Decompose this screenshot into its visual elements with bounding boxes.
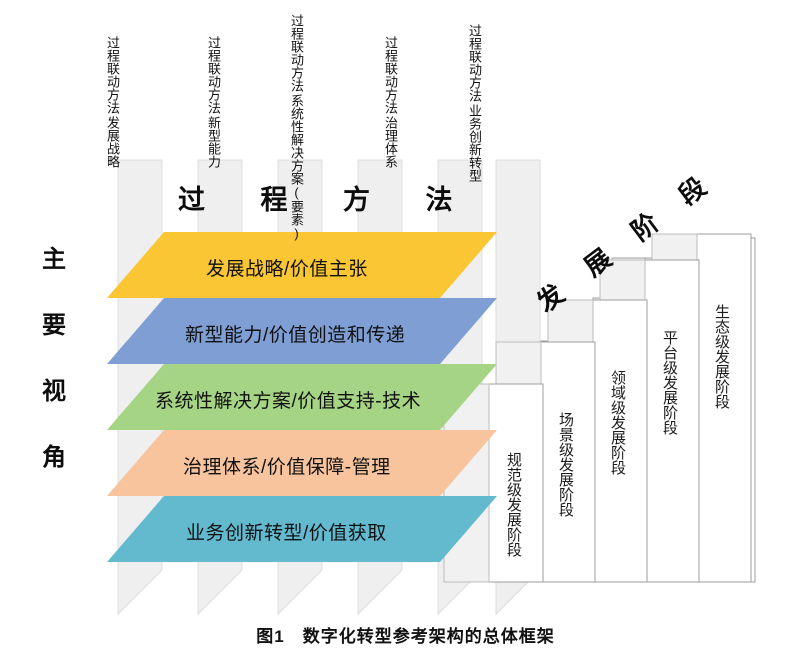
process-column-5-line2: 过程联动方法	[466, 24, 483, 102]
process-column-1-line1: 发展战略	[104, 116, 121, 168]
layer-label-business: 业务创新转型/价值获取	[186, 518, 387, 545]
stage-label-scene: 场景级发展阶段	[557, 412, 573, 517]
process-column-3-line1: 系统性解决方案(要素)	[288, 94, 305, 241]
stage-boxes	[444, 234, 751, 582]
layer-label-capability: 新型能力/价值创造和传递	[185, 320, 405, 347]
layer-label-solution: 系统性解决方案/价值支持-技术	[155, 386, 421, 413]
process-column-2-line1: 新型能力	[205, 116, 222, 168]
process-column-4-line2: 过程联动方法	[382, 36, 399, 114]
process-column-2-line2: 过程联动方法	[205, 36, 222, 114]
layer-label-strategy: 发展战略/价值主张	[206, 254, 368, 281]
layer-label-governance: 治理体系/价值保障-管理	[183, 452, 391, 479]
caption-number: 图1	[256, 627, 284, 646]
process-column-3-line2: 过程联动方法	[288, 14, 305, 92]
figure-canvas: 发展战略 过程联动方法 新型能力 过程联动方法 系统性解决方案(要素) 过程联动…	[0, 0, 811, 663]
stage-label-norm: 规范级发展阶段	[505, 452, 521, 557]
main-perspective-char-4: 角	[42, 446, 66, 470]
process-column-label-5: 业务创新转型 过程联动方法	[466, 24, 483, 182]
process-column-label-1: 发展战略 过程联动方法	[104, 36, 121, 168]
stage-label-platform: 平台级发展阶段	[661, 330, 677, 435]
figure-caption: 图1数字化转型参考架构的总体框架	[0, 622, 811, 647]
process-column-4-line1: 治理体系	[382, 116, 399, 168]
caption-title: 数字化转型参考架构的总体框架	[303, 627, 555, 646]
main-perspective-char-1: 主	[42, 248, 66, 272]
process-column-label-2: 新型能力 过程联动方法	[205, 36, 222, 168]
main-perspective-char-3: 视	[42, 380, 66, 404]
process-method-title: 过 程 方 法	[178, 178, 477, 217]
diagram-artwork	[0, 0, 811, 663]
process-column-5-line1: 业务创新转型	[466, 104, 483, 182]
main-perspective-char-2: 要	[42, 314, 66, 338]
stage-label-domain: 领域级发展阶段	[609, 370, 625, 475]
process-column-1-line2: 过程联动方法	[104, 36, 121, 114]
stage-label-ecology: 生态级发展阶段	[713, 304, 729, 409]
main-perspective-axis: 主 要 视 角	[42, 248, 66, 470]
process-column-label-4: 治理体系 过程联动方法	[382, 36, 399, 168]
